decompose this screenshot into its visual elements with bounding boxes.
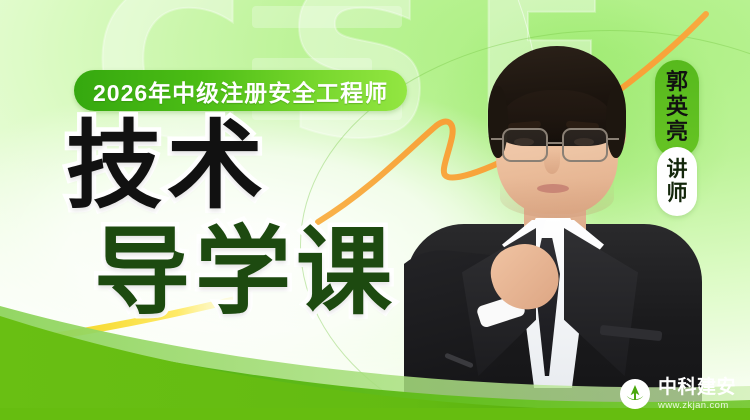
instructor-role-char-2: 师 <box>667 181 688 205</box>
course-badge-label: 2026年中级注册安全工程师 <box>93 74 388 108</box>
zkjan-logo-icon <box>620 379 650 409</box>
headline-line-1: 技术 <box>66 120 397 212</box>
instructor-name-char-3: 亮 <box>666 121 688 146</box>
headline: 技术 导学课 <box>66 120 397 318</box>
logo-text-block: 中科建安 www.zkjan.com <box>658 378 736 411</box>
instructor-name-char-2: 英 <box>666 96 688 121</box>
course-banner: CSE <box>0 0 750 420</box>
logo-company-name: 中科建安 <box>658 378 736 397</box>
instructor-name-badge: 郭 英 亮 <box>655 60 699 158</box>
instructor-role-char-1: 讲 <box>667 157 688 181</box>
course-title-badge: 2026年中级注册安全工程师 <box>74 70 407 111</box>
instructor-name-char-1: 郭 <box>666 71 688 96</box>
logo-website-url: www.zkjan.com <box>658 401 736 411</box>
brand-logo[interactable]: 中科建安 www.zkjan.com <box>620 378 736 411</box>
instructor-role-badge: 讲 师 <box>657 147 697 216</box>
